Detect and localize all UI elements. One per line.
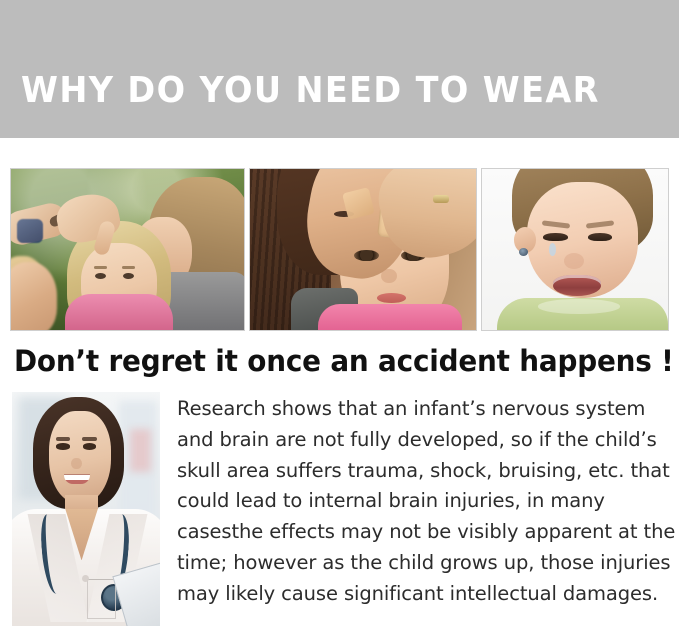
header-banner: WHY DO YOU NEED TO WEAR A SAFETY HELMET … [0, 0, 679, 138]
photo-crying-toddler [481, 168, 669, 331]
photo-strip [10, 168, 669, 331]
body-paragraph: Research shows that an infant’s nervous … [177, 394, 677, 610]
photo-female-doctor [12, 392, 160, 626]
photo-adult-checking-girls-head [10, 168, 245, 331]
headline: Don’t regret it once an accident happens… [14, 344, 648, 378]
photo-mother-kissing-child-with-bandage [249, 168, 477, 331]
page-title-line-1: WHY DO YOU NEED TO WEAR [21, 67, 616, 115]
